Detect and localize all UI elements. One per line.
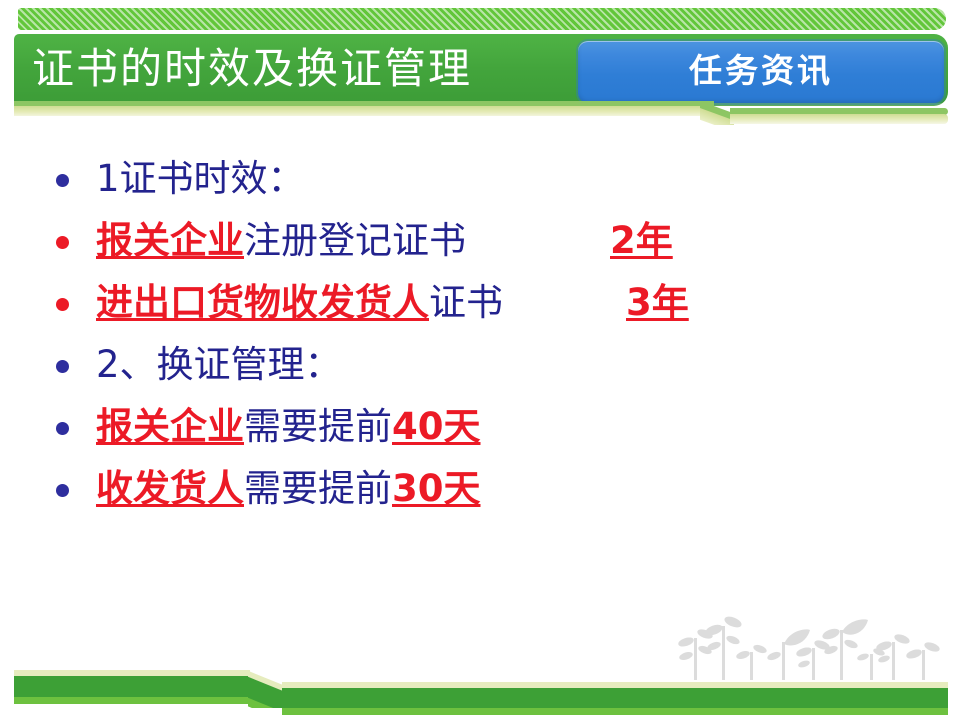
text-segment: 40天	[392, 405, 481, 448]
header-underline-right-pale	[730, 114, 948, 124]
text-segment: 收发货人	[96, 467, 244, 510]
list-bullet-blue	[56, 422, 69, 435]
text-segment: 需要提前	[244, 467, 392, 510]
text-segment: 进出口货物收发货人	[96, 281, 429, 324]
text-segment: 注册登记证书	[244, 219, 466, 262]
text-segment: 30天	[392, 467, 481, 510]
list-item-text: 进出口货物收发货人证书	[96, 274, 503, 336]
slide-canvas: 证书的时效及换证管理 任务资讯 1证书时效：报关企业注册登记证书2年进出口货物收…	[0, 0, 960, 720]
page-title: 证书的时效及换证管理	[32, 38, 572, 100]
sprout-plants-icon	[670, 612, 950, 684]
list-item-text: 1证书时效：	[96, 150, 305, 212]
text-segment: 2、换证管理：	[96, 343, 342, 386]
footer-bar-left-lime	[14, 697, 250, 704]
list-bullet-blue	[56, 484, 69, 497]
text-segment: 报关企业	[96, 219, 244, 262]
header-underline-diagonal	[700, 101, 734, 125]
bullet-list: 1证书时效：报关企业注册登记证书2年进出口货物收发货人证书3年 2、换证管理： …	[42, 150, 922, 522]
list-bullet-blue	[56, 174, 69, 187]
text-segment: 1证书时效：	[96, 157, 305, 200]
task-info-badge-label: 任务资讯	[578, 41, 944, 103]
footer-bar-right-lime	[282, 708, 948, 715]
validity-period-value: 3年	[626, 274, 689, 336]
list-item-text: 报关企业注册登记证书	[96, 212, 466, 274]
header-underline-left-pale	[14, 106, 714, 116]
list-item: 2、换证管理：	[42, 336, 922, 398]
text-segment: 需要提前	[244, 405, 392, 448]
footer-bar-right-green	[282, 688, 948, 708]
list-item: 报关企业需要提前40天	[42, 398, 922, 460]
list-item-text: 收发货人需要提前30天	[96, 460, 481, 522]
list-item: 1证书时效：	[42, 150, 922, 212]
list-item: 收发货人需要提前30天	[42, 460, 922, 522]
list-bullet-red	[56, 236, 69, 249]
list-bullet-red	[56, 298, 69, 311]
top-stripe-bar	[18, 8, 946, 30]
task-info-badge[interactable]: 任务资讯	[578, 41, 944, 103]
list-item: 报关企业注册登记证书2年	[42, 212, 922, 274]
text-segment: 报关企业	[96, 405, 244, 448]
list-item-text: 报关企业需要提前40天	[96, 398, 481, 460]
validity-period-value: 2年	[610, 212, 673, 274]
list-bullet-blue	[56, 360, 69, 373]
list-item-text: 2、换证管理：	[96, 336, 342, 398]
text-segment: 证书	[429, 281, 503, 324]
footer-bar-left-green	[14, 676, 250, 697]
list-item: 进出口货物收发货人证书3年	[42, 274, 922, 336]
